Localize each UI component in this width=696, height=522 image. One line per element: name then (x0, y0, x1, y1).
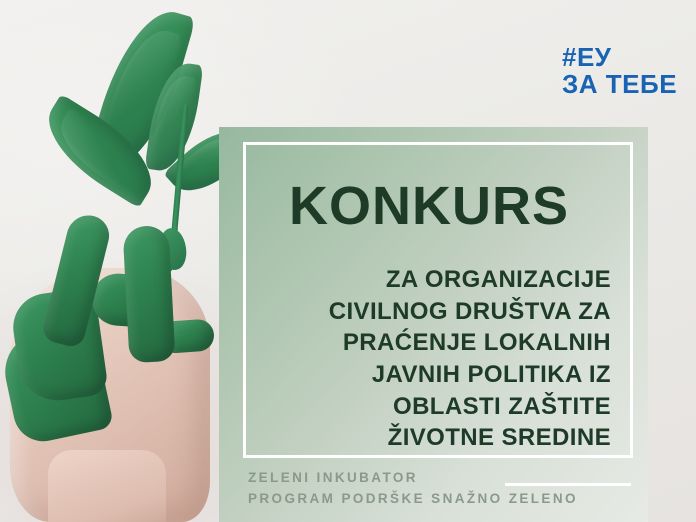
page-title: KONKURS (243, 178, 615, 235)
footer-text: ZELENI INKUBATOR PROGRAM PODRŠKE SNAŽNO … (248, 468, 578, 510)
subtitle-line-1: ZA ORGANIZACIJE (243, 264, 611, 296)
finger-thumb (122, 225, 175, 363)
logo-line-2: ЗА ТЕБЕ (562, 71, 677, 98)
eu-za-tebe-logo: #ЕУ ЗА ТЕБЕ (562, 44, 677, 98)
subtitle-line-6: ŽIVOTNE SREDINE (243, 422, 611, 454)
subtitle-line-2: CIVILNOG DRUŠTVA ZA (243, 296, 611, 328)
subtitle-block: ZA ORGANIZACIJE CIVILNOG DRUŠTVA ZA PRAĆ… (243, 264, 611, 454)
subtitle-line-3: PRAĆENJE LOKALNIH (243, 327, 611, 359)
subtitle-line-5: OBLASTI ZAŠTITE (243, 391, 611, 423)
wrist (48, 450, 166, 522)
subtitle-line-4: JAVNIH POLITIKA IZ (243, 359, 611, 391)
footer-program-subtitle: PROGRAM PODRŠKE SNAŽNO ZELENO (248, 489, 578, 510)
logo-line-1: #ЕУ (562, 44, 677, 71)
footer-divider-rule (505, 483, 631, 486)
poster-canvas: KONKURS ZA ORGANIZACIJE CIVILNOG DRUŠTVA… (0, 0, 696, 522)
